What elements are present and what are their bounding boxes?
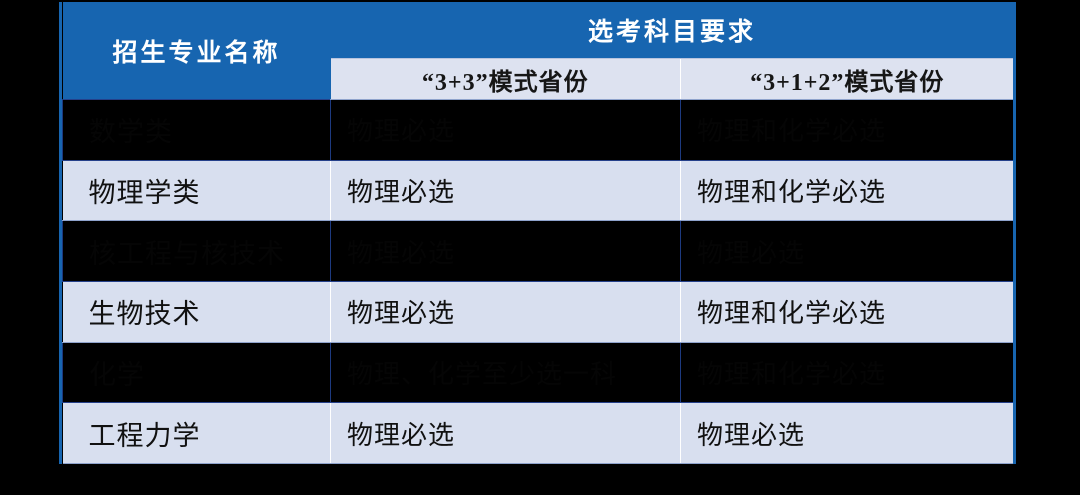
admissions-requirements-table: 招生专业名称 选考科目要求 “3+3”模式省份 “3+1+2”模式省份 数学类 … (62, 2, 1014, 464)
cell-mode-3-1-2: 物理必选 (681, 221, 1014, 282)
cell-major-name: 工程力学 (63, 403, 331, 464)
cell-mode-3-1-2: 物理必选 (681, 403, 1014, 464)
table-right-rail (1013, 2, 1016, 464)
cell-major-name: 物理学类 (63, 160, 331, 221)
cell-mode-3-3: 物理必选 (331, 281, 681, 342)
column-header-major-name: 招生专业名称 (63, 2, 331, 100)
cell-mode-3-1-2: 物理和化学必选 (681, 342, 1014, 403)
table-row: 数学类 物理必选 物理和化学必选 (63, 100, 1014, 161)
cell-major-name: 数学类 (63, 100, 331, 161)
column-header-mode-3-1-2: “3+1+2”模式省份 (681, 59, 1014, 100)
cell-mode-3-1-2: 物理和化学必选 (681, 281, 1014, 342)
table-row: 核工程与核技术 物理必选 物理必选 (63, 221, 1014, 282)
table-left-rail (59, 2, 62, 464)
slide-canvas: 招生专业名称 选考科目要求 “3+3”模式省份 “3+1+2”模式省份 数学类 … (0, 0, 1080, 495)
table-row: 生物技术 物理必选 物理和化学必选 (63, 281, 1014, 342)
cell-mode-3-3: 物理、化学至少选一科 (331, 342, 681, 403)
table-body: 数学类 物理必选 物理和化学必选 物理学类 物理必选 物理和化学必选 核工程与核… (63, 100, 1014, 464)
table-row: 工程力学 物理必选 物理必选 (63, 403, 1014, 464)
cell-mode-3-3: 物理必选 (331, 160, 681, 221)
table-row: 化学 物理、化学至少选一科 物理和化学必选 (63, 342, 1014, 403)
admissions-table-container: 招生专业名称 选考科目要求 “3+3”模式省份 “3+1+2”模式省份 数学类 … (62, 2, 1013, 464)
column-header-mode-3-3: “3+3”模式省份 (331, 59, 681, 100)
cell-major-name: 化学 (63, 342, 331, 403)
cell-mode-3-1-2: 物理和化学必选 (681, 100, 1014, 161)
table-header: 招生专业名称 选考科目要求 “3+3”模式省份 “3+1+2”模式省份 (63, 2, 1014, 100)
table-row: 物理学类 物理必选 物理和化学必选 (63, 160, 1014, 221)
cell-mode-3-1-2: 物理和化学必选 (681, 160, 1014, 221)
column-header-subject-requirements: 选考科目要求 (331, 2, 1014, 59)
cell-mode-3-3: 物理必选 (331, 221, 681, 282)
table-header-row-top: 招生专业名称 选考科目要求 (63, 2, 1014, 59)
cell-mode-3-3: 物理必选 (331, 403, 681, 464)
cell-major-name: 核工程与核技术 (63, 221, 331, 282)
cell-major-name: 生物技术 (63, 281, 331, 342)
cell-mode-3-3: 物理必选 (331, 100, 681, 161)
